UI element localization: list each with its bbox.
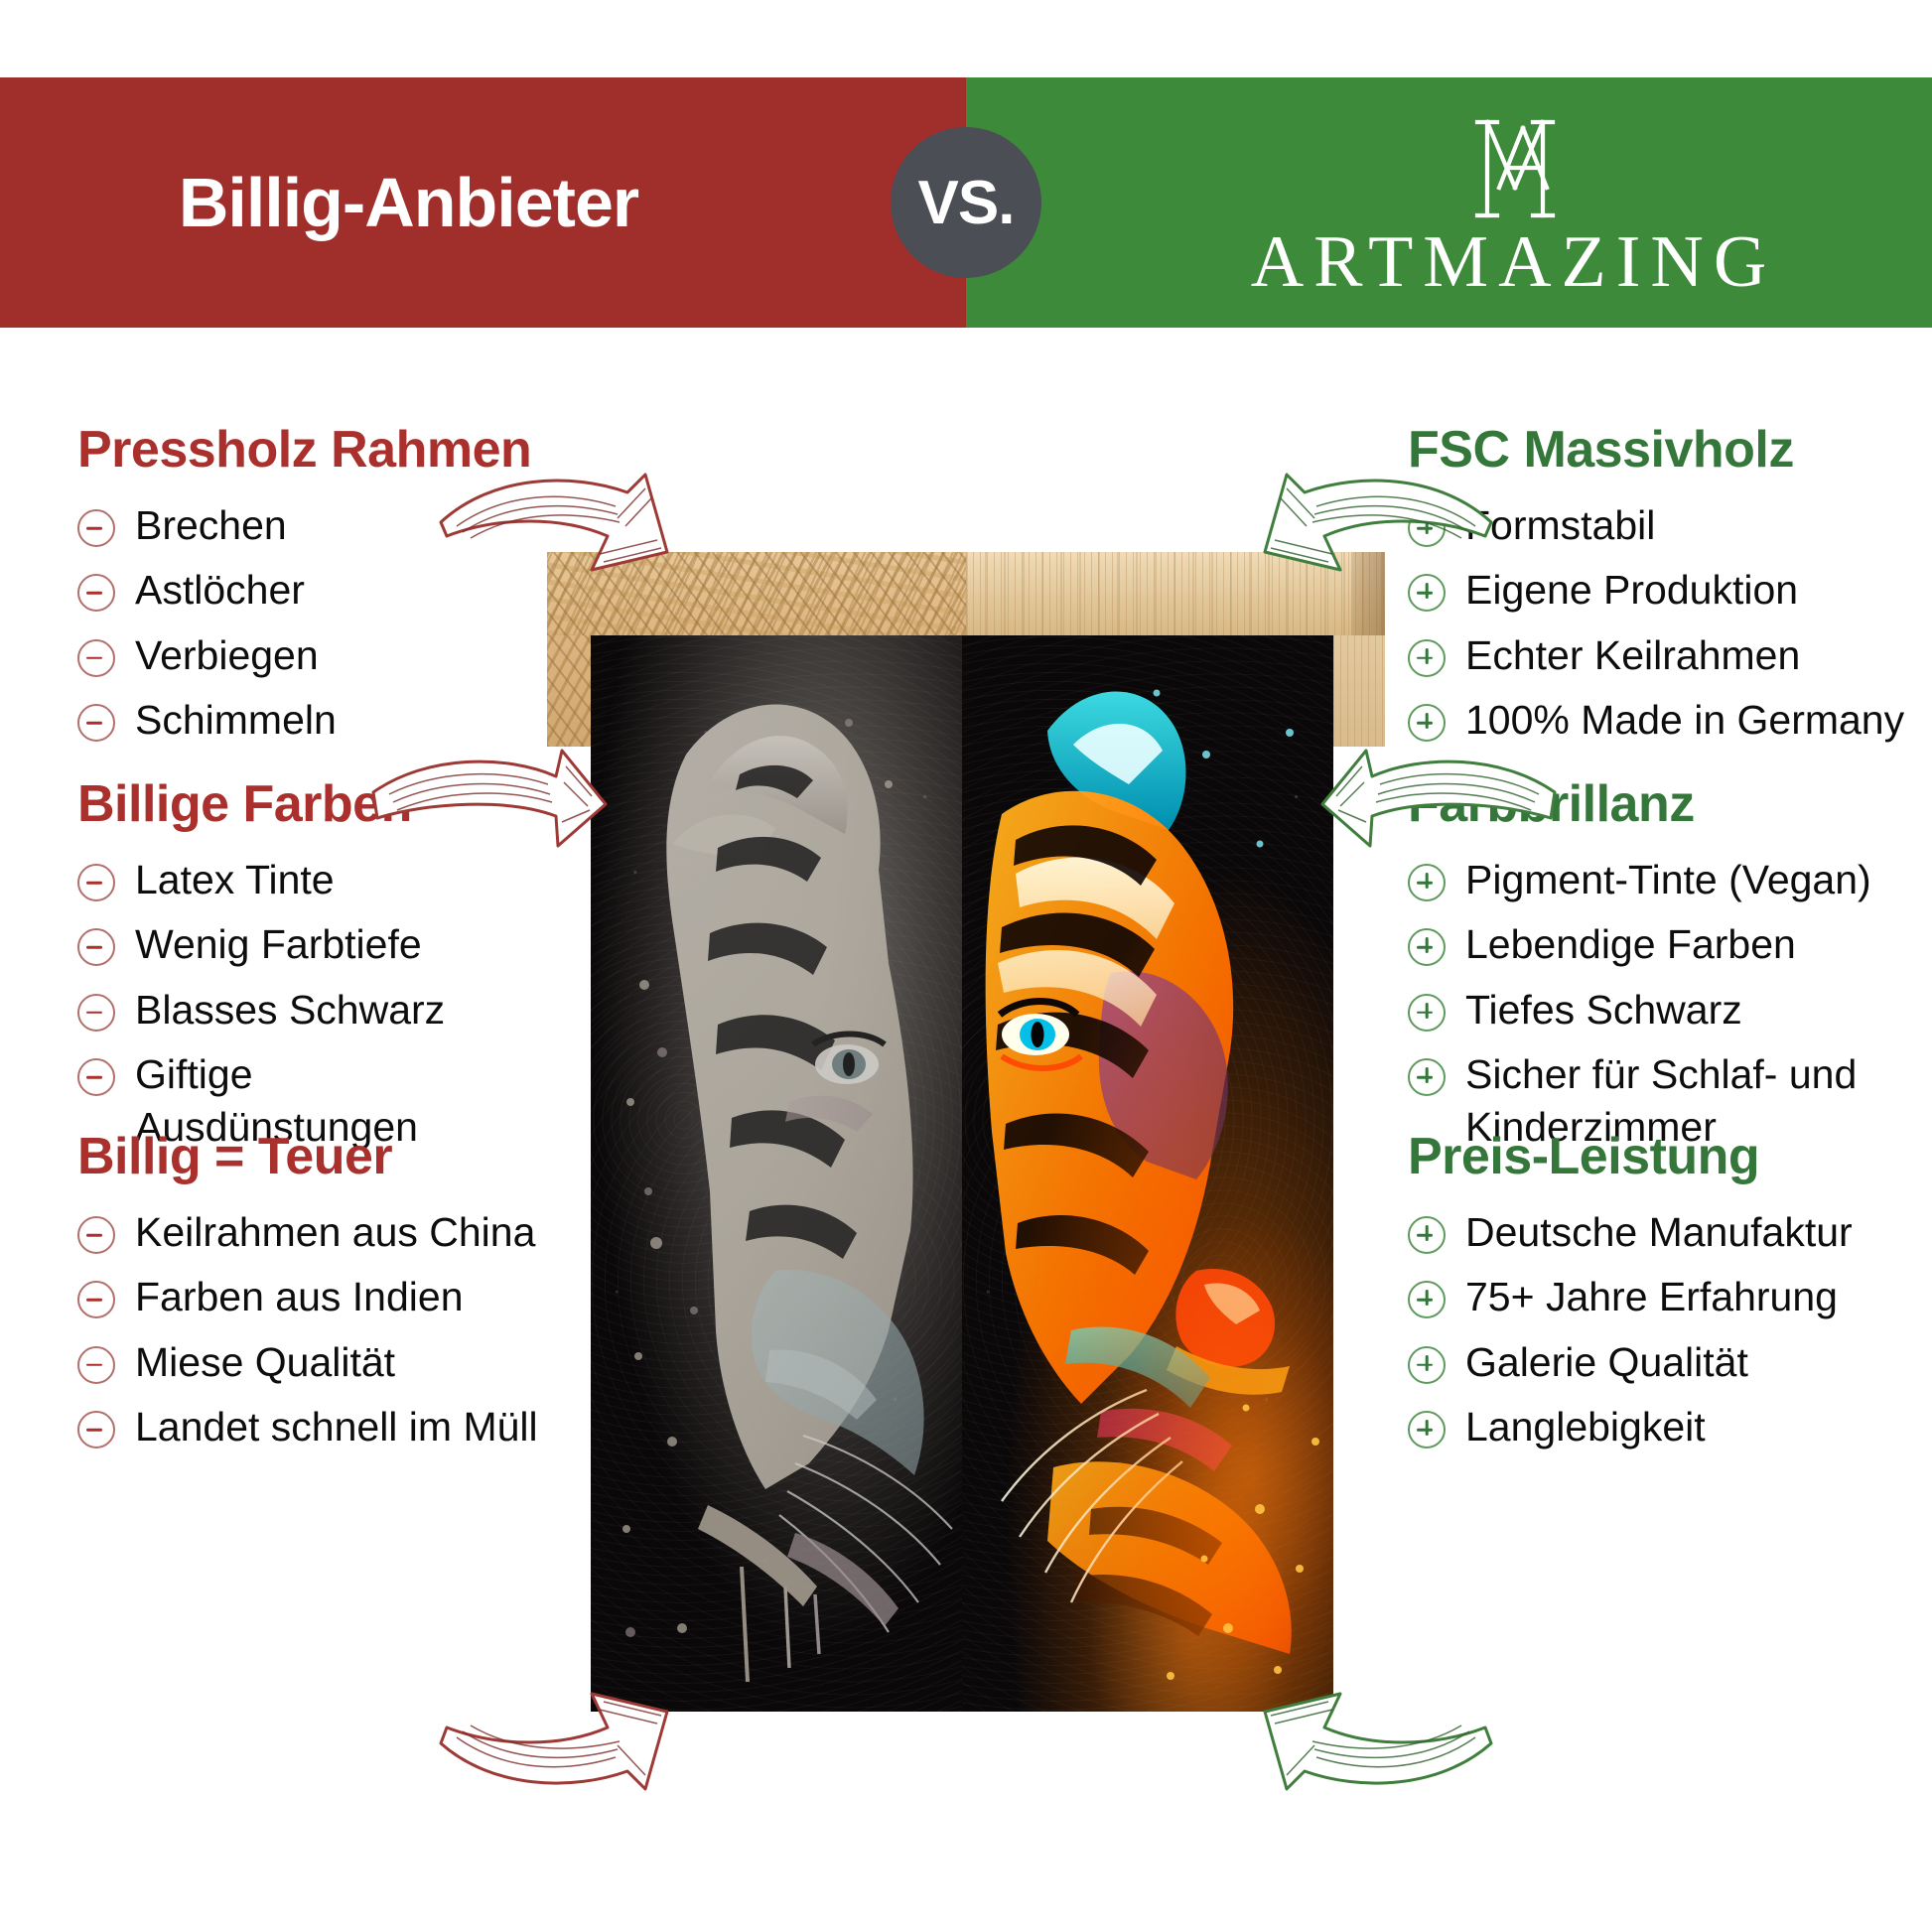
sketch-arrow-bottom-right	[1231, 1628, 1499, 1797]
list-item-label: Langlebigkeit	[1465, 1401, 1914, 1453]
sketch-arrow-top-left	[433, 467, 701, 635]
circle-minus-icon	[77, 928, 115, 966]
sketch-arrow-middle-right	[1303, 737, 1561, 866]
tiger-illustration-right-half	[962, 635, 1333, 1712]
list-item-label: Deutsche Manufaktur	[1465, 1206, 1914, 1259]
circle-minus-icon	[77, 639, 115, 677]
header-left-panel: Billig-Anbieter	[0, 77, 966, 328]
feature-list: Keilrahmen aus China Farben aus Indien M…	[77, 1206, 544, 1453]
page-title-cheap-provider: Billig-Anbieter	[179, 163, 638, 242]
list-item: Wenig Farbtiefe	[77, 918, 544, 971]
circle-plus-icon	[1408, 1411, 1446, 1449]
sketch-arrow-middle-left	[367, 737, 625, 866]
feature-list: Pigment-Tinte (Vegan) Lebendige Farben T…	[1408, 854, 1914, 1154]
list-item: Echter Keilrahmen	[1408, 629, 1914, 682]
circle-plus-icon	[1408, 928, 1446, 966]
list-item-label: Formstabil	[1465, 499, 1914, 552]
list-item-label: Galerie Qualität	[1465, 1336, 1914, 1389]
list-item: Keilrahmen aus China	[77, 1206, 544, 1259]
canvas-half-cheap-print	[591, 635, 962, 1712]
list-item-label: Miese Qualität	[135, 1336, 544, 1389]
printed-canvas	[591, 635, 1333, 1712]
list-item-label: Blasses Schwarz	[135, 984, 544, 1036]
circle-plus-icon	[1408, 1216, 1446, 1254]
brand-name: ARTMAZING	[1251, 225, 1777, 299]
list-item-label: Tiefes Schwarz	[1465, 984, 1914, 1036]
circle-minus-icon	[77, 1216, 115, 1254]
list-item: Langlebigkeit	[1408, 1401, 1914, 1453]
list-item: Lebendige Farben	[1408, 918, 1914, 971]
list-item: Farben aus Indien	[77, 1271, 544, 1323]
list-item: Deutsche Manufaktur	[1408, 1206, 1914, 1259]
section-title: Billig = Teuer	[77, 1129, 544, 1184]
list-item: Miese Qualität	[77, 1336, 544, 1389]
circle-minus-icon	[77, 509, 115, 547]
circle-plus-icon	[1408, 1058, 1446, 1096]
list-item-label: Verbiegen	[135, 629, 544, 682]
circle-plus-icon	[1408, 994, 1446, 1032]
artmazing-monogram-icon	[1440, 110, 1588, 229]
list-item: 75+ Jahre Erfahrung	[1408, 1271, 1914, 1323]
list-item: Blasses Schwarz	[77, 984, 544, 1036]
circle-plus-icon	[1408, 864, 1446, 901]
list-item-label: Wenig Farbtiefe	[135, 918, 544, 971]
circle-minus-icon	[77, 994, 115, 1032]
circle-plus-icon	[1408, 1346, 1446, 1384]
feature-list: Latex Tinte Wenig Farbtiefe Blasses Schw…	[77, 854, 544, 1154]
canvas-half-quality-print	[962, 635, 1333, 1712]
section-billig-gleich-teuer: Billig = Teuer Keilrahmen aus China Farb…	[77, 1129, 544, 1465]
list-item-label: Farben aus Indien	[135, 1271, 544, 1323]
brand-logo: ARTMAZING	[1251, 110, 1777, 299]
vs-label: VS.	[918, 168, 1015, 238]
circle-plus-icon	[1408, 1281, 1446, 1318]
section-preis-leistung: Preis-Leistung Deutsche Manufaktur 75+ J…	[1408, 1129, 1914, 1465]
vs-badge: VS.	[891, 127, 1041, 278]
header-right-panel: ARTMAZING	[966, 77, 1932, 328]
list-item-label: Echter Keilrahmen	[1465, 629, 1914, 682]
circle-minus-icon	[77, 1346, 115, 1384]
section-title: Preis-Leistung	[1408, 1129, 1914, 1184]
sketch-arrow-bottom-left	[433, 1628, 701, 1797]
canvas-artwork-stage	[547, 552, 1385, 1712]
tiger-illustration-left-half	[591, 635, 962, 1712]
circle-minus-icon	[77, 1058, 115, 1096]
circle-minus-icon	[77, 1281, 115, 1318]
circle-minus-icon	[77, 1411, 115, 1449]
list-item: Galerie Qualität	[1408, 1336, 1914, 1389]
comparison-infographic: Billig-Anbieter	[0, 0, 1932, 1932]
sketch-arrow-top-right	[1231, 467, 1499, 635]
list-item-label: Keilrahmen aus China	[135, 1206, 544, 1259]
feature-list: Deutsche Manufaktur 75+ Jahre Erfahrung …	[1408, 1206, 1914, 1453]
list-item-label: Eigene Produktion	[1465, 564, 1914, 617]
list-item-label: Landet schnell im Müll	[135, 1401, 544, 1453]
circle-plus-icon	[1408, 639, 1446, 677]
list-item: Tiefes Schwarz	[1408, 984, 1914, 1036]
circle-minus-icon	[77, 574, 115, 612]
list-item: Verbiegen	[77, 629, 544, 682]
list-item-label: 75+ Jahre Erfahrung	[1465, 1271, 1914, 1323]
circle-minus-icon	[77, 864, 115, 901]
list-item-label: Lebendige Farben	[1465, 918, 1914, 971]
list-item: Landet schnell im Müll	[77, 1401, 544, 1453]
circle-minus-icon	[77, 704, 115, 742]
